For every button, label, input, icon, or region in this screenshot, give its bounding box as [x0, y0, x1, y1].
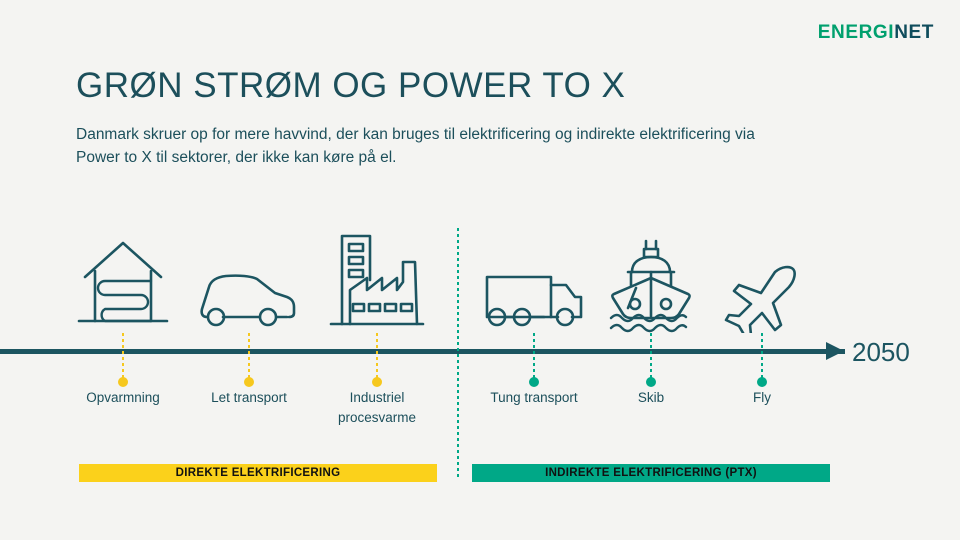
- car-icon: [179, 225, 319, 333]
- arrow-right-icon: [826, 342, 844, 360]
- category-bar-indirect-electrification[interactable]: INDIREKTE ELEKTRIFICERING (PTX): [472, 464, 830, 482]
- timeline-item-label: Fly: [692, 388, 832, 408]
- timeline-item-industriel-procesvarme[interactable]: Industriel procesvarme: [307, 225, 447, 333]
- timeline-item-fly[interactable]: Fly: [692, 225, 832, 333]
- connector-line: [376, 333, 378, 381]
- timeline-marker-dot: [529, 377, 539, 387]
- page-title: GRØN STRØM OG POWER TO X: [76, 66, 625, 106]
- timeline-marker-dot: [244, 377, 254, 387]
- connector-line: [122, 333, 124, 381]
- timeline-marker-dot: [372, 377, 382, 387]
- timeline-item-opvarmning[interactable]: Opvarmning: [53, 225, 193, 333]
- category-bar-label: DIREKTE ELEKTRIFICERING: [176, 467, 341, 479]
- category-bar-label: INDIREKTE ELEKTRIFICERING (PTX): [545, 467, 757, 479]
- house-floor-heating-icon: [53, 225, 193, 333]
- factory-icon: [307, 225, 447, 333]
- timeline-marker-dot: [118, 377, 128, 387]
- energinet-logo: ENERGINET: [818, 22, 934, 44]
- page-subtitle: Danmark skruer op for mere havvind, der …: [76, 123, 756, 170]
- airplane-icon: [692, 225, 832, 333]
- timeline-item-label: Industriel procesvarme: [307, 388, 447, 427]
- connector-line: [533, 333, 535, 381]
- timeline-end-year: 2050: [852, 337, 910, 368]
- logo-text-net: NET: [894, 22, 934, 43]
- timeline-item-label: Let transport: [179, 388, 319, 408]
- slide-canvas: ENERGINET GRØN STRØM OG POWER TO X Danma…: [0, 0, 960, 540]
- connector-line: [761, 333, 763, 381]
- logo-text-energi: ENERGI: [818, 22, 894, 43]
- timeline-marker-dot: [757, 377, 767, 387]
- timeline-item-let-transport[interactable]: Let transport: [179, 225, 319, 333]
- category-bar-direct-electrification[interactable]: DIREKTE ELEKTRIFICERING: [79, 464, 437, 482]
- connector-line: [650, 333, 652, 381]
- timeline-item-label: Opvarmning: [53, 388, 193, 408]
- connector-line: [248, 333, 250, 381]
- timeline-axis: [0, 349, 845, 354]
- vertical-dotted-divider: [457, 228, 459, 480]
- timeline-marker-dot: [646, 377, 656, 387]
